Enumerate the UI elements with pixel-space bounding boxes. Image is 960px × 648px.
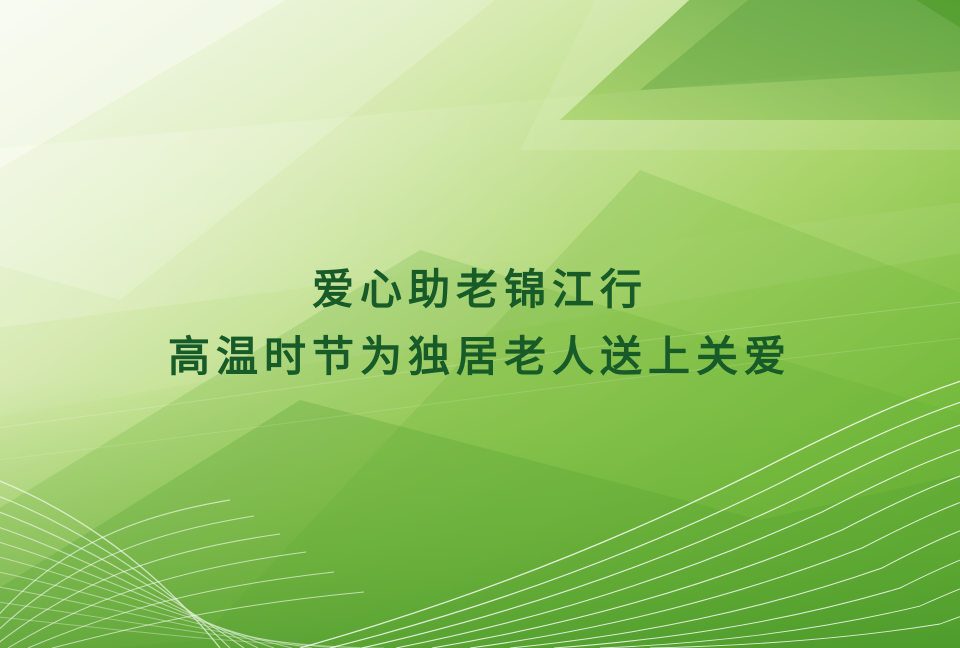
background-graphic — [0, 0, 960, 648]
promo-banner: 爱心助老锦江行 高温时节为独居老人送上关爱 — [0, 0, 960, 648]
